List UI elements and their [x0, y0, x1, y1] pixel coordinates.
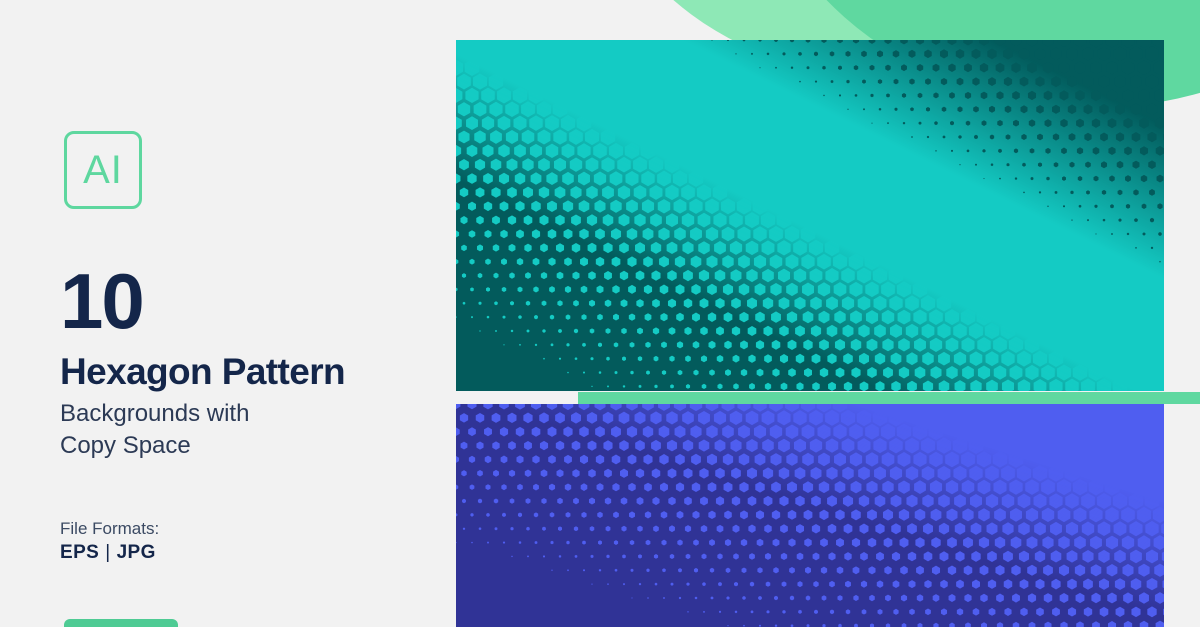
- adobe-illustrator-badge: AI: [64, 131, 142, 209]
- blue-hexagon-preview[interactable]: [456, 404, 1164, 627]
- adobe-illustrator-badge-label: AI: [83, 150, 123, 190]
- page-subtitle-line-1: Backgrounds with: [60, 398, 249, 430]
- file-formats-values: EPS|JPG: [60, 540, 159, 566]
- file-format-separator: |: [99, 542, 116, 563]
- teal-hexagon-preview[interactable]: [456, 40, 1164, 391]
- bottom-pill[interactable]: [64, 619, 178, 627]
- item-count: 10: [60, 262, 143, 340]
- page-subtitle: Backgrounds with Copy Space: [60, 398, 249, 462]
- file-format-jpg: JPG: [117, 542, 156, 563]
- preview-canvas: AI 10 Hexagon Pattern Backgrounds with C…: [0, 0, 1200, 627]
- file-formats-label: File Formats:: [60, 517, 159, 540]
- page-title: Hexagon Pattern: [60, 352, 345, 392]
- page-subtitle-line-2: Copy Space: [60, 430, 249, 462]
- info-column: AI 10 Hexagon Pattern Backgrounds with C…: [0, 0, 456, 627]
- file-formats: File Formats: EPS|JPG: [60, 517, 159, 567]
- file-format-eps: EPS: [60, 542, 99, 563]
